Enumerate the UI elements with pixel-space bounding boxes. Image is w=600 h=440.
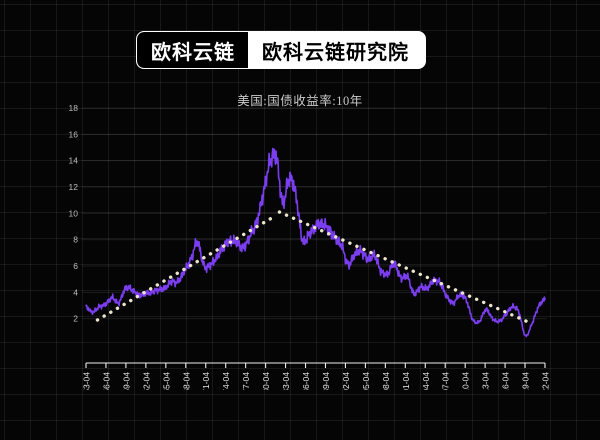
x-axis-tick-label: 07-04	[441, 372, 451, 390]
brand-logo-text: 欧科云链	[137, 32, 248, 68]
x-axis-tick-label: 16-04	[501, 372, 511, 390]
chart-title: 美国:国债收益率:10年	[0, 90, 600, 109]
y-axis-tick-label: 4	[73, 287, 78, 297]
x-axis-tick-label: 80-04	[261, 372, 271, 390]
brand-banner: 欧科云链 欧科云链研究院	[137, 32, 425, 68]
x-axis-tick-label: 19-04	[521, 372, 531, 390]
y-axis-tick-label: 12	[69, 182, 79, 192]
x-axis-tick-label: 01-04	[401, 372, 411, 390]
y-axis-tick-label: 6	[73, 261, 78, 271]
x-axis-tick-label: 86-04	[301, 372, 311, 390]
x-axis-tick-label: 13-04	[481, 372, 491, 390]
x-axis-tick-label: 65-04	[161, 372, 171, 390]
uptrend-dotted-line	[97, 219, 270, 320]
x-axis-tick-label: 89-04	[321, 372, 331, 390]
downtrend-dotted-line	[279, 212, 526, 321]
x-axis-tick-label: 92-04	[341, 372, 351, 390]
x-axis-tick-label: 10-04	[461, 372, 471, 390]
y-axis-tick-label: 8	[73, 235, 78, 245]
x-axis-tick-label: 62-04	[141, 372, 151, 390]
x-axis-tick-label: 95-04	[361, 372, 371, 390]
x-axis-tick-label: 59-04	[121, 372, 131, 390]
y-axis-tick-label: 14	[69, 156, 79, 166]
x-axis-tick-label: 77-04	[241, 372, 251, 390]
y-axis-tick-label: 16	[69, 129, 79, 139]
x-axis-tick-label: 74-04	[221, 372, 231, 390]
x-axis-tick-label: 56-04	[101, 372, 111, 390]
y-axis-tick-label: 10	[69, 208, 79, 218]
x-axis-tick-label: 04-04	[421, 372, 431, 390]
x-axis-tick-label: 71-04	[201, 372, 211, 390]
x-axis-tick-label: 68-04	[181, 372, 191, 390]
x-axis-tick-label: 53-04	[82, 372, 92, 390]
x-axis-tick-label: 98-04	[381, 372, 391, 390]
chart-container: 美国:国债收益率:10年 2468101214161853-0456-0459-…	[0, 90, 600, 390]
y-axis-tick-label: 2	[73, 314, 78, 324]
chart-plot: 2468101214161853-0456-0459-0462-0465-046…	[0, 90, 600, 390]
yield-series-line	[86, 149, 545, 337]
x-axis-tick-label: 83-04	[281, 372, 291, 390]
brand-institute-text: 欧科云链研究院	[248, 32, 425, 68]
x-axis-tick-label: 22-04	[541, 372, 551, 390]
